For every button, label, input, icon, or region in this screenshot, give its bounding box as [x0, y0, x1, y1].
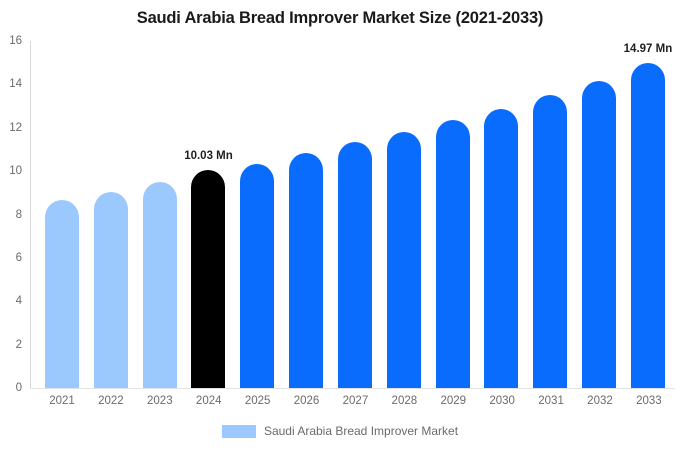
- y-axis-tick-4: 4: [16, 295, 22, 307]
- bar-column[interactable]: [94, 41, 128, 388]
- bar-value-label: 10.03 Mn: [184, 150, 233, 162]
- y-axis-tick-10: 10: [9, 165, 22, 177]
- x-axis-tick-2028: 2028: [387, 395, 421, 407]
- chart-legend: Saudi Arabia Bread Improver Market: [0, 424, 680, 438]
- bar-chart: Saudi Arabia Bread Improver Market Size …: [0, 0, 680, 450]
- bar-2027[interactable]: [338, 142, 372, 388]
- bar-2032[interactable]: [582, 81, 616, 388]
- bar-2030[interactable]: [484, 109, 518, 388]
- plot-area: 0 2 4 6 8 10 12 14 16 10.03 Mn14.97 Mn: [30, 41, 675, 389]
- y-axis-tick-2: 2: [16, 339, 22, 351]
- legend-label: Saudi Arabia Bread Improver Market: [264, 424, 458, 438]
- bar-column[interactable]: 10.03 Mn: [191, 41, 225, 388]
- x-axis-tick-2026: 2026: [290, 395, 324, 407]
- x-axis-tick-2033: 2033: [632, 395, 666, 407]
- legend-item[interactable]: Saudi Arabia Bread Improver Market: [222, 424, 458, 438]
- y-axis-tick-12: 12: [9, 122, 22, 134]
- bar-2023[interactable]: [143, 182, 177, 388]
- bar-2031[interactable]: [533, 95, 567, 388]
- bar-series: 10.03 Mn14.97 Mn: [31, 41, 675, 388]
- x-axis-tick-2024: 2024: [192, 395, 226, 407]
- bar-2022[interactable]: [94, 192, 128, 388]
- bar-column[interactable]: 14.97 Mn: [631, 41, 665, 388]
- bar-2026[interactable]: [289, 153, 323, 388]
- bar-2028[interactable]: [387, 132, 421, 388]
- y-axis-tick-14: 14: [9, 78, 22, 90]
- chart-title: Saudi Arabia Bread Improver Market Size …: [0, 8, 680, 28]
- x-axis-tick-2023: 2023: [143, 395, 177, 407]
- bar-2033[interactable]: [631, 63, 665, 388]
- bar-column[interactable]: [533, 41, 567, 388]
- y-axis-tick-16: 16: [9, 35, 22, 47]
- x-axis-tick-2030: 2030: [485, 395, 519, 407]
- bar-column[interactable]: [143, 41, 177, 388]
- bar-column[interactable]: [436, 41, 470, 388]
- x-axis-tick-2025: 2025: [241, 395, 275, 407]
- bar-column[interactable]: [338, 41, 372, 388]
- y-axis-tick-6: 6: [16, 252, 22, 264]
- bar-column[interactable]: [289, 41, 323, 388]
- bar-column[interactable]: [240, 41, 274, 388]
- legend-swatch-icon: [222, 425, 256, 438]
- bar-2024[interactable]: [191, 170, 225, 388]
- y-axis-tick-8: 8: [16, 209, 22, 221]
- x-axis-tick-2021: 2021: [45, 395, 79, 407]
- bar-column[interactable]: [387, 41, 421, 388]
- bar-2025[interactable]: [240, 164, 274, 388]
- bar-value-label: 14.97 Mn: [624, 43, 673, 55]
- x-axis-tick-2031: 2031: [534, 395, 568, 407]
- x-axis-line: [30, 388, 675, 389]
- bar-column[interactable]: [45, 41, 79, 388]
- bar-column[interactable]: [484, 41, 518, 388]
- x-axis-tick-2029: 2029: [436, 395, 470, 407]
- y-axis-tick-0: 0: [16, 382, 22, 394]
- bar-2021[interactable]: [45, 200, 79, 388]
- bar-column[interactable]: [582, 41, 616, 388]
- x-axis-tick-2022: 2022: [94, 395, 128, 407]
- x-axis-tick-2032: 2032: [583, 395, 617, 407]
- x-axis-ticks: 2021202220232024202520262027202820292030…: [31, 395, 676, 407]
- x-axis-tick-2027: 2027: [338, 395, 372, 407]
- bar-2029[interactable]: [436, 120, 470, 388]
